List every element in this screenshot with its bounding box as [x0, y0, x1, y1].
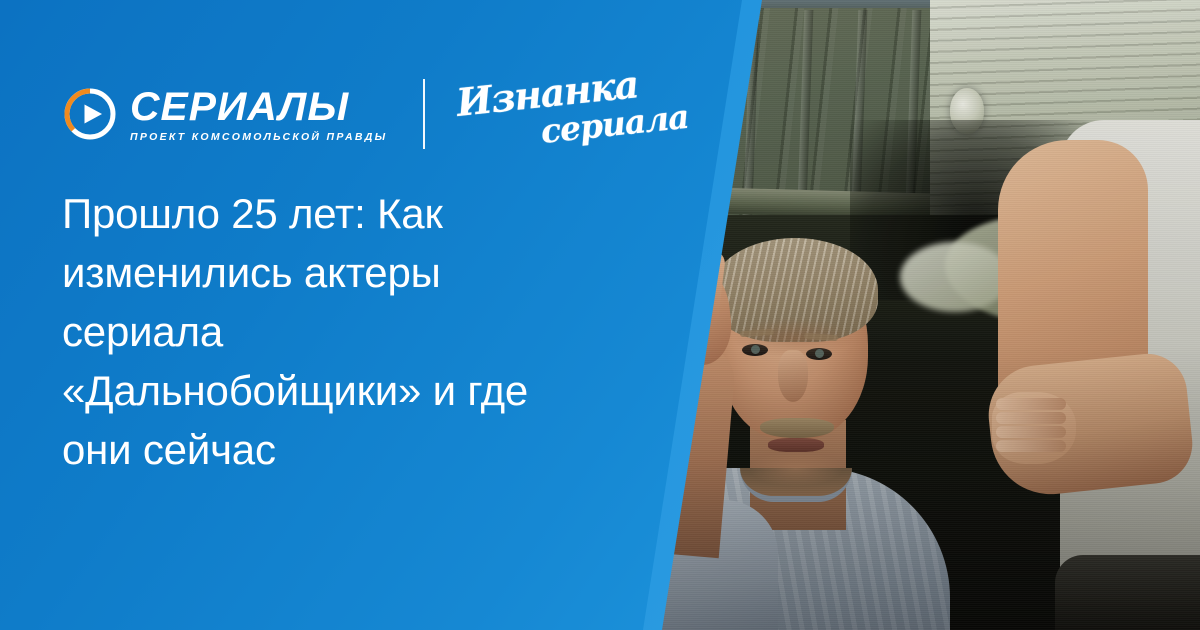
brand-divider — [423, 79, 425, 149]
page-title: Прошло 25 лет: Как изменились актеры сер… — [62, 184, 572, 479]
izanka-seriala-logo[interactable]: Изнанка сериала — [457, 76, 707, 152]
play-circle-icon[interactable] — [62, 86, 118, 142]
brand-bar: СЕРИАЛЫ ПРОЕКТ КОМСОМОЛЬСКОЙ ПРАВДЫ Изна… — [62, 76, 707, 152]
share-card: СЕРИАЛЫ ПРОЕКТ КОМСОМОЛЬСКОЙ ПРАВДЫ Изна… — [0, 0, 1200, 630]
wordmark-block: СЕРИАЛЫ ПРОЕКТ КОМСОМОЛЬСКОЙ ПРАВДЫ — [130, 85, 387, 143]
content-layer: СЕРИАЛЫ ПРОЕКТ КОМСОМОЛЬСКОЙ ПРАВДЫ Изна… — [0, 0, 1200, 630]
wordmark-tagline: ПРОЕКТ КОМСОМОЛЬСКОЙ ПРАВДЫ — [130, 132, 387, 143]
wordmark-title: СЕРИАЛЫ — [130, 87, 393, 127]
